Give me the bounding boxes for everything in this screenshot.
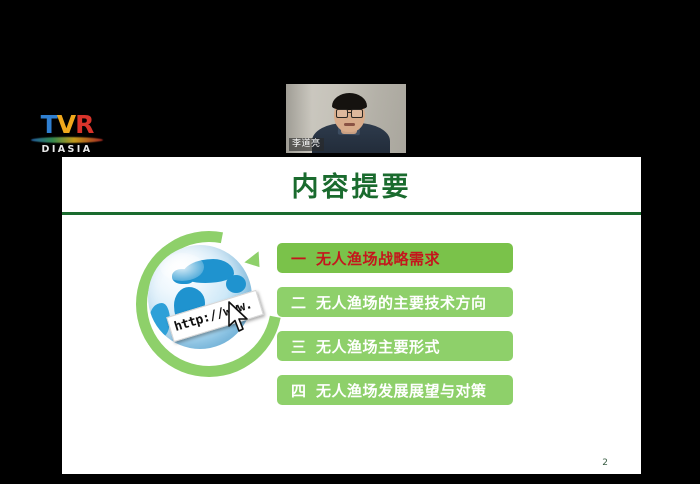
logo-letter-v: V (57, 110, 75, 139)
presentation-slide: 内容提要 http://www. 一 (62, 157, 641, 474)
slide-title: 内容提要 (62, 172, 641, 204)
glasses-lens-left (336, 109, 348, 118)
agenda-item-4-label: 无人渔场发展展望与对策 (316, 380, 487, 401)
globe-internet-graphic: http://www. (134, 229, 266, 361)
agenda-item-4[interactable]: 四 无人渔场发展展望与对策 (277, 375, 513, 405)
globe-highlight (160, 253, 204, 281)
agenda-item-1-label: 无人渔场战略需求 (316, 248, 440, 269)
mouse-pointer-arrow-icon (228, 301, 250, 333)
logo-subtitle: DIASIA (28, 145, 106, 155)
agenda-item-1[interactable]: 一 无人渔场战略需求 (277, 243, 513, 273)
agenda-item-3-label: 无人渔场主要形式 (316, 336, 440, 357)
agenda-item-2[interactable]: 二 无人渔场的主要技术方向 (277, 287, 513, 317)
speaker-name-label: 李道亮 (289, 138, 324, 151)
tvr-diasia-logo: TVR DIASIA (28, 112, 106, 156)
agenda-item-3-number: 三 (291, 336, 307, 357)
agenda-item-2-number: 二 (291, 292, 307, 313)
agenda-item-3[interactable]: 三 无人渔场主要形式 (277, 331, 513, 361)
agenda-item-4-number: 四 (291, 380, 307, 401)
title-divider-rule (62, 212, 641, 215)
speaker-glasses-icon (336, 109, 363, 116)
slide-page-number: 2 (602, 458, 608, 468)
logo-swoosh-icon (31, 137, 103, 143)
logo-letter-t: T (41, 110, 57, 139)
landmass-east-asia (226, 275, 246, 293)
speaker-video-tile[interactable]: 李道亮 (286, 84, 406, 153)
agenda-item-1-number: 一 (291, 248, 307, 269)
agenda-item-2-label: 无人渔场的主要技术方向 (316, 292, 487, 313)
logo-letter-r: R (75, 110, 93, 139)
presentation-stage: TVR DIASIA 李道亮 内容提要 (0, 0, 700, 484)
speaker-mouth (344, 123, 355, 126)
tvr-wordmark: TVR (28, 112, 106, 138)
agenda-list: 一 无人渔场战略需求 二 无人渔场的主要技术方向 三 无人渔场主要形式 四 无人… (277, 243, 513, 419)
glasses-lens-right (351, 109, 363, 118)
